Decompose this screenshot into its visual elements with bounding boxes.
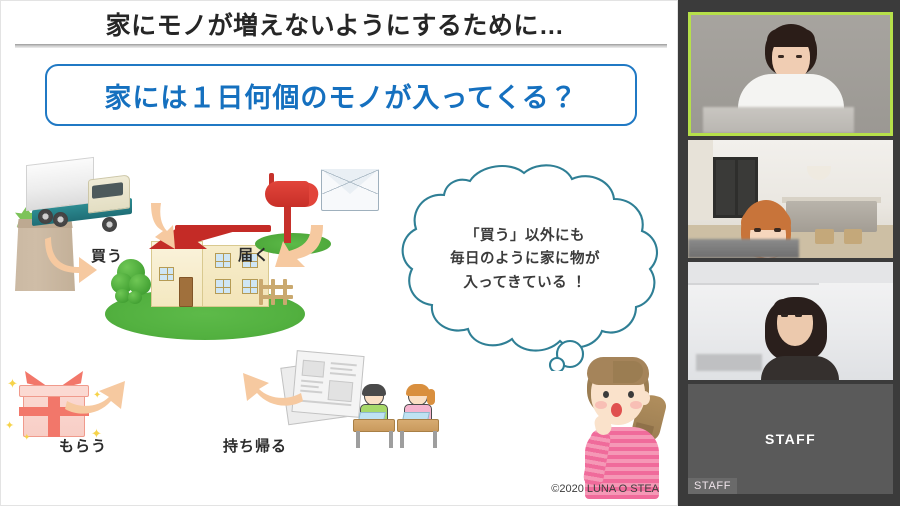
house-window <box>215 279 231 294</box>
video-feed <box>688 262 893 380</box>
house-door <box>179 277 193 307</box>
house-window <box>159 267 174 281</box>
label-buy: 買う <box>91 245 123 266</box>
staff-name-badge: STAFF <box>688 478 737 494</box>
label-deliver: 届く <box>238 244 270 265</box>
tree-icon <box>111 259 151 311</box>
sparkle-icon: ✦ <box>23 433 31 442</box>
video-feed <box>691 15 890 133</box>
thought-bubble-text: 「買う」以外にも 毎日のように家に物が 入ってきている ！ <box>414 225 636 295</box>
thought-bubble: 「買う」以外にも 毎日のように家に物が 入ってきている ！ <box>374 161 674 371</box>
label-bring-home: 持ち帰る <box>223 435 287 456</box>
video-tile-participant-2[interactable] <box>688 140 893 258</box>
delivery-truck-icon <box>26 159 144 231</box>
sparkle-icon: ✦ <box>5 421 14 432</box>
diagram-stage: ✦ ✦ ✦ ✦ ✦ <box>1 129 678 506</box>
house-roof-side <box>176 231 236 248</box>
arrow-deliver-down <box>149 203 181 251</box>
label-receive: もらう <box>59 435 107 456</box>
headline-box: 家には１日何個のモノが入ってくる？ <box>45 64 637 126</box>
sparkle-icon: ✦ <box>7 377 18 390</box>
house-window <box>215 253 231 268</box>
video-tile-participant-1[interactable] <box>688 12 893 136</box>
copyright-text: ©2020 LUNA O STEA <box>1 483 669 495</box>
students-at-desks-icon <box>353 379 445 449</box>
screen-root: 家にモノが増えないようにするために… 家には１日何個のモノが入ってくる？ <box>0 0 900 506</box>
thinking-girl-illustration <box>573 351 673 499</box>
arrow-newspaper-to-house <box>239 367 305 409</box>
participants-panel: STAFF STAFF <box>678 0 900 506</box>
house-window <box>242 279 258 294</box>
slide-title: 家にモノが増えないようにするために… <box>15 3 655 45</box>
video-feed <box>688 140 893 258</box>
arrow-gift-to-house <box>63 375 129 417</box>
envelope-icon <box>321 169 379 211</box>
shared-slide: 家にモノが増えないようにするために… 家には１日何個のモノが入ってくる？ <box>0 0 678 506</box>
video-tile-participant-3[interactable] <box>688 262 893 380</box>
arrow-mail-to-house <box>273 223 325 273</box>
headline-text: 家には１日何個のモノが入ってくる？ <box>104 76 577 115</box>
fence-icon <box>259 279 295 305</box>
title-divider <box>15 44 667 48</box>
